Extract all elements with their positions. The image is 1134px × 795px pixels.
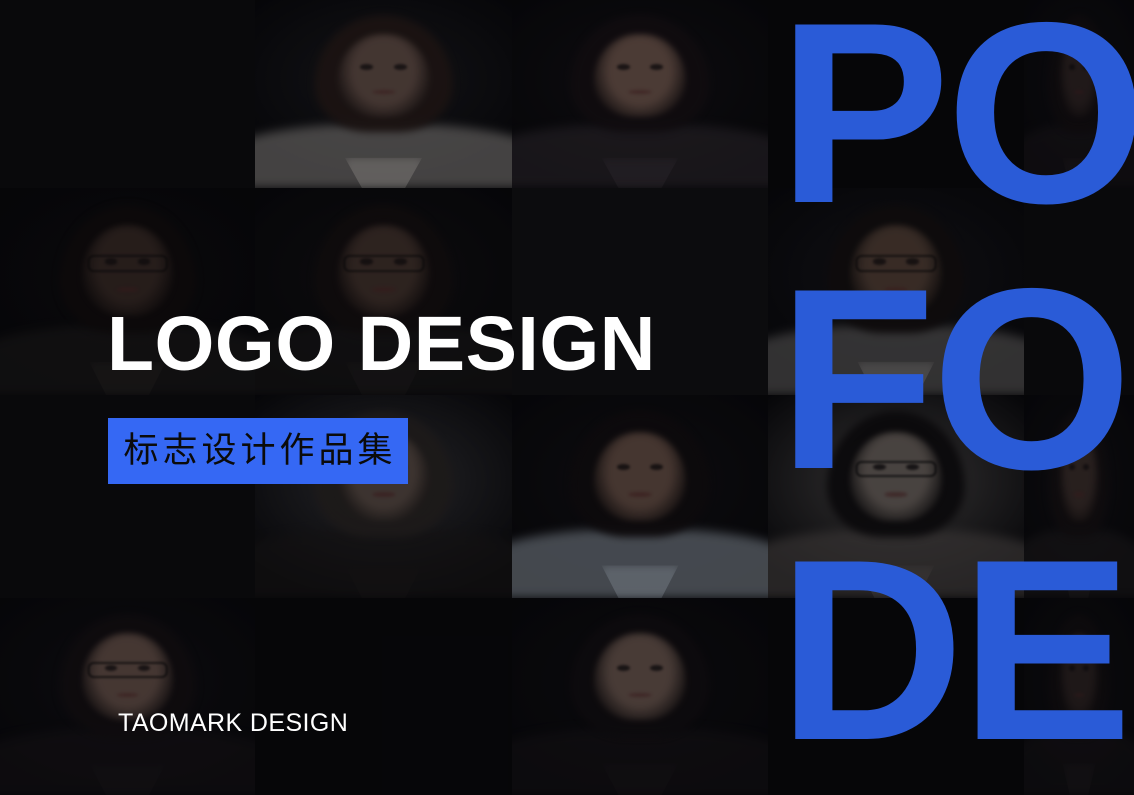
portrait-eye-right [394, 64, 407, 70]
portrait-face [1059, 633, 1099, 720]
portrait-eye-left [360, 64, 373, 70]
portrait-face [594, 432, 686, 521]
portrait-woman-long-hair-white-shirt [255, 0, 512, 188]
cell-r2c5 [1024, 188, 1134, 395]
photo-grid [0, 0, 1134, 795]
portrait-face [1059, 34, 1099, 117]
portrait-eye-right [1083, 665, 1089, 671]
portrait-glasses [856, 255, 937, 271]
portrait-man-glasses-white-collar [768, 188, 1024, 395]
portrait-eye-left [1069, 665, 1075, 671]
cell-r1c1 [0, 0, 255, 188]
portrait-eye-left [617, 464, 630, 470]
cell-r4c4 [768, 598, 1024, 795]
portrait-person-edge-low-light [1024, 598, 1134, 795]
portrait-eye-left [1069, 64, 1075, 70]
portrait-glasses [87, 662, 168, 678]
portrait-eye-right [1083, 64, 1089, 70]
portrait-eye-right [1083, 464, 1089, 470]
portrait-eye-left [617, 665, 630, 671]
portrait-mouth [372, 287, 395, 292]
portrait-face [1059, 432, 1099, 521]
portrait-eye-right [650, 665, 663, 671]
cell-r1c3 [512, 0, 768, 188]
footer-brand: TAOMARK DESIGN [118, 709, 348, 738]
portrait-face [594, 633, 686, 720]
poster-canvas: PO FO DE LOGO DESIGN 标志设计作品集 TAOMARK DES… [0, 0, 1134, 795]
cell-r2c4 [768, 188, 1024, 395]
portrait-mouth [116, 287, 139, 292]
portrait-person-dark-hair-edge [1024, 0, 1134, 188]
cell-r1c4 [768, 0, 1024, 188]
portrait-woman-smiling-dark-hair [512, 0, 768, 188]
cell-r4c5 [1024, 598, 1134, 795]
portrait-woman-glasses-dark-jacket [0, 598, 255, 795]
cell-r4c3 [512, 598, 768, 795]
cell-r1c5 [1024, 0, 1134, 188]
portrait-glasses [856, 461, 937, 477]
portrait-eye-right [650, 64, 663, 70]
portrait-eye-left [617, 64, 630, 70]
portrait-face [337, 34, 430, 117]
cell-r4c1 [0, 598, 255, 795]
portrait-glasses [87, 255, 168, 271]
portrait-woman-straight-hair-face [512, 598, 768, 795]
portrait-mouth [884, 287, 907, 292]
portrait-woman-blue-shirt [512, 395, 768, 598]
portrait-eye-left [1069, 464, 1075, 470]
cell-r3c5 [1024, 395, 1134, 598]
cell-r1c2 [255, 0, 512, 188]
portrait-face [594, 34, 686, 117]
subtitle-badge: 标志设计作品集 [108, 418, 408, 484]
page-title: LOGO DESIGN [107, 306, 656, 383]
cell-r3c3 [512, 395, 768, 598]
portrait-person-edge-dark [1024, 395, 1134, 598]
cell-r3c4 [768, 395, 1024, 598]
subtitle-badge-label: 标志设计作品集 [119, 434, 396, 469]
portrait-glasses [343, 255, 424, 271]
cell-r4c2 [255, 598, 512, 795]
portrait-person-round-glasses-bob [768, 395, 1024, 598]
